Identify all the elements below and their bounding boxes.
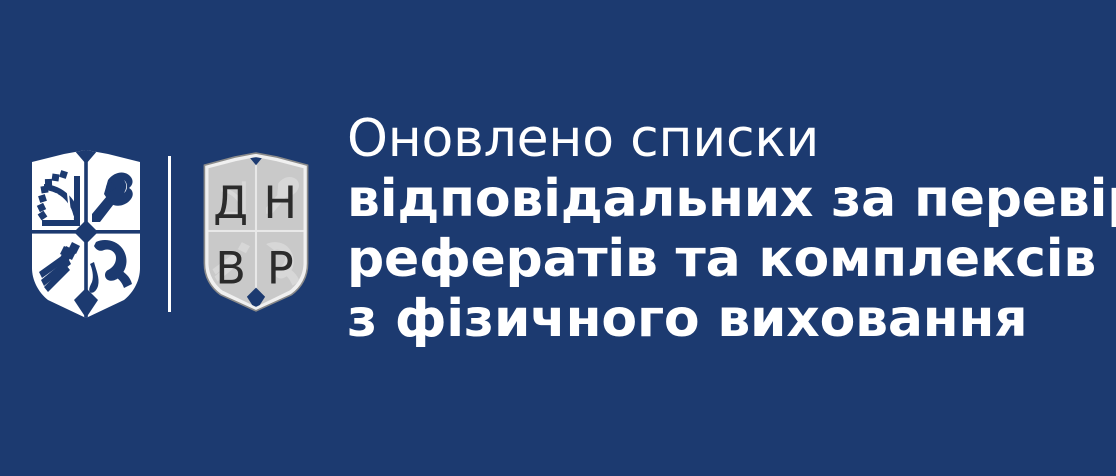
announcement-banner: Д Н В Р Оновлено списки відповідальних з… <box>0 0 1116 476</box>
primary-shield-body <box>30 150 142 318</box>
logo-cluster: Д Н В Р <box>30 148 315 320</box>
headline: Оновлено списки відповідальних за переві… <box>347 109 1107 349</box>
headline-line-3: рефератів та комплексів <box>347 229 1107 289</box>
headline-line-1: Оновлено списки <box>347 109 1107 169</box>
headline-line-4: з фізичного виховання <box>347 289 1107 349</box>
dnvr-shield-logo: Д Н В Р <box>199 149 313 319</box>
svg-text:Р: Р <box>267 244 294 295</box>
primary-shield-logo <box>30 150 142 318</box>
svg-text:В: В <box>215 244 246 295</box>
dnvr-shield-body: Д Н В Р <box>199 149 312 319</box>
logo-divider <box>168 156 171 312</box>
headline-line-2: відповідальних за перевірку <box>347 169 1107 229</box>
svg-text:Н: Н <box>264 178 297 229</box>
svg-text:Д: Д <box>213 178 248 229</box>
